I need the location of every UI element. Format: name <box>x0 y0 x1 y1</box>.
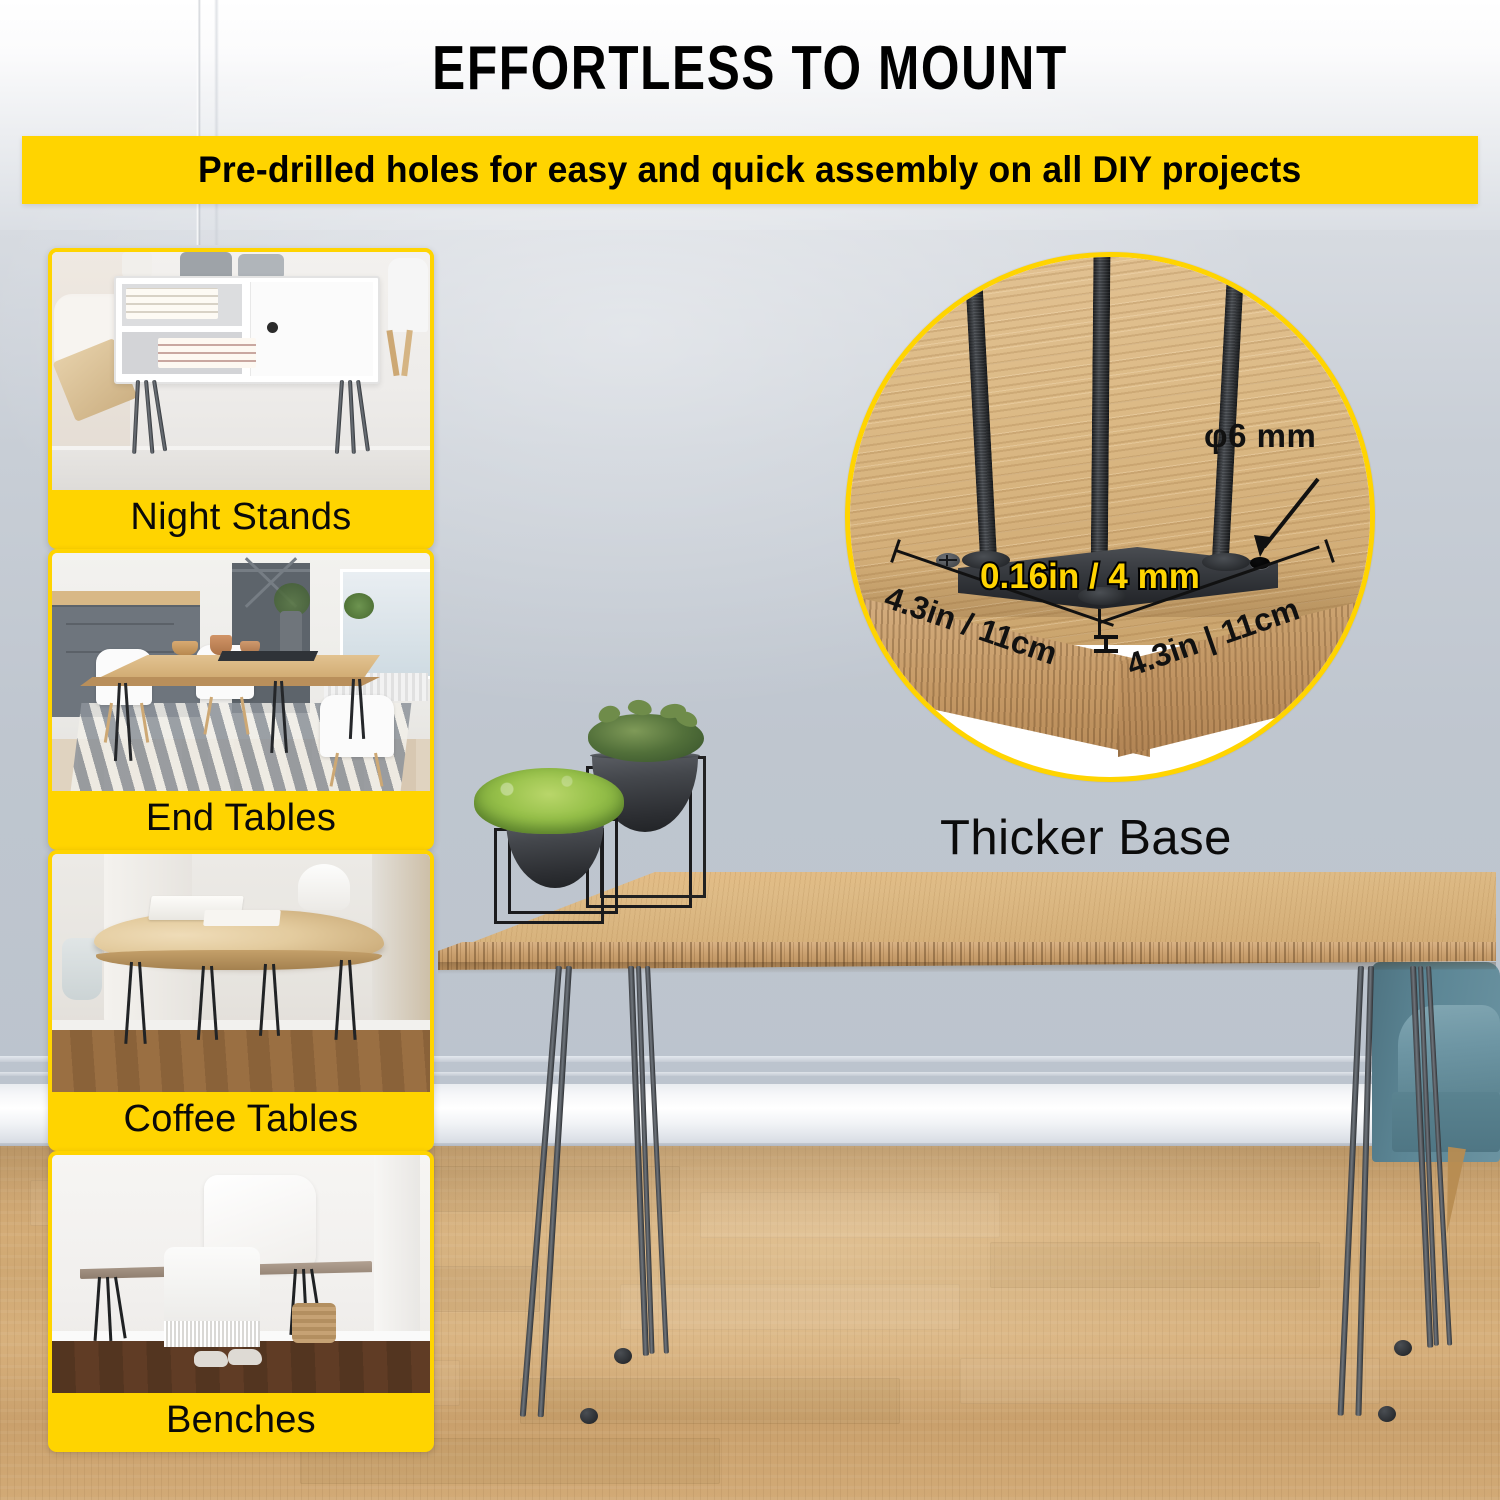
sidebar-card-label-wrap: Benches <box>52 1393 430 1448</box>
sidebar-card-night-stands[interactable]: Night Stands <box>48 248 434 549</box>
wall-seam-right <box>214 0 219 245</box>
wall-seam-left <box>196 0 201 245</box>
plate-thickness-label: 0.16in / 4 mm <box>980 557 1200 597</box>
sidebar-card-coffee-tables[interactable]: Coffee Tables <box>48 850 434 1151</box>
sidebar-card-label: Night Stands <box>130 496 351 539</box>
sidebar-card-label-wrap: Coffee Tables <box>52 1092 430 1147</box>
moss-foliage <box>474 768 624 834</box>
nightstand-thumbnail <box>52 252 430 490</box>
subtitle-banner: Pre-drilled holes for easy and quick ass… <box>22 136 1478 204</box>
sidebar-card-end-tables[interactable]: End Tables <box>48 549 434 850</box>
thickness-tick-marker <box>1094 635 1118 653</box>
sidebar-card-label: Benches <box>166 1399 316 1442</box>
dim-cap-corner <box>1098 609 1101 635</box>
sidebar-card-benches[interactable]: Benches <box>48 1151 434 1452</box>
hole-diameter-label: φ6 mm <box>1204 417 1316 455</box>
sidebar-card-label-wrap: End Tables <box>52 791 430 846</box>
callout-leg-rod-center <box>1090 252 1110 593</box>
sidebar-card-label: Coffee Tables <box>124 1098 359 1141</box>
bench-thumbnail <box>52 1155 430 1393</box>
coffee-table-thumbnail <box>52 854 430 1092</box>
hole-leader-arrow <box>1224 465 1344 575</box>
subtitle-text: Pre-drilled holes for easy and quick ass… <box>198 149 1301 191</box>
thicker-base-caption: Thicker Base <box>940 810 1232 866</box>
sidebar-card-label-wrap: Night Stands <box>52 490 430 545</box>
dining-table-thumbnail <box>52 553 430 791</box>
page-title: EFFORTLESS TO MOUNT <box>150 38 1350 100</box>
detail-callout-circle: φ6 mm 0.16in / 4 mm 4.3in / 11cm 4.3in |… <box>845 252 1375 782</box>
armchair-seat <box>1392 1092 1500 1152</box>
sidebar-card-label: End Tables <box>146 797 336 840</box>
product-marketing-image: φ6 mm 0.16in / 4 mm 4.3in / 11cm 4.3in |… <box>0 0 1500 1500</box>
